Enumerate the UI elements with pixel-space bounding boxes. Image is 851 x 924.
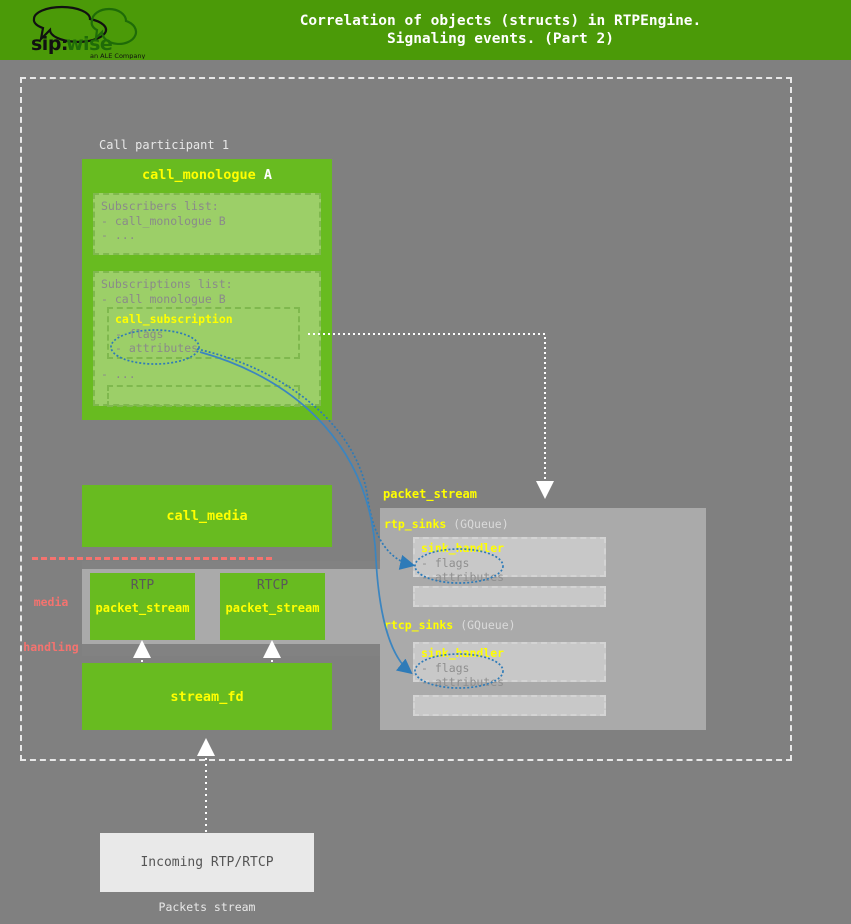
rtcp-label: RTCP [220, 578, 325, 593]
subscriptions-list-pane: Subscriptions list: - call monologue B c… [93, 271, 321, 406]
page-header: sip: wise an ALE Company Correlation of … [0, 0, 851, 60]
call-participant-label: Call participant 1 [99, 138, 229, 152]
call-media-title: call_media [82, 508, 332, 524]
subscribers-list-pane: Subscribers list: - call_monologue B - .… [93, 193, 321, 255]
stream-fd-title: stream_fd [82, 689, 332, 705]
subscribers-item-0: - call_monologue B [101, 214, 313, 229]
incoming-rtp-rtcp-box[interactable]: Incoming RTP/RTCP [100, 833, 314, 892]
rtp-packet-stream-box[interactable]: RTP packet_stream [90, 573, 195, 640]
media-handling-divider [32, 557, 272, 560]
rtp-sinks-label: rtp_sinks (GQueue) [384, 517, 509, 531]
sipwise-logo-icon: sip: wise an ALE Company [28, 3, 168, 59]
rtcp-sink-handler-placeholder [413, 695, 606, 716]
packets-stream-label: Packets stream [100, 900, 314, 914]
rtp-sink-handler-field-attributes: - attributes [421, 570, 598, 585]
media-band-bottom [82, 644, 380, 656]
media-handling-label-line2: handling [20, 640, 82, 655]
packet-stream-detail-box: rtp_sinks (GQueue) sink_handler - flags … [380, 508, 706, 730]
media-handling-label-line1: media [20, 595, 82, 610]
subscriptions-item-1: - ... [101, 367, 136, 382]
call-subscription-placeholder-box [107, 385, 300, 407]
rtp-sink-handler-field-flags: - flags [421, 556, 598, 571]
packet-stream-label: packet_stream [383, 487, 477, 501]
subscribers-item-1: - ... [101, 228, 313, 243]
rtp-packet-stream-title: packet_stream [90, 601, 195, 615]
rtp-sink-handler-title: sink_handler [421, 541, 598, 556]
rtp-sink-handler-box[interactable]: sink_handler - flags - attributes [413, 537, 606, 577]
call-media-box[interactable]: call_media [82, 485, 332, 547]
rtcp-sink-handler-field-attributes: - attributes [421, 675, 598, 690]
page-title-line1: Correlation of objects (structs) in RTPE… [190, 12, 811, 30]
rtcp-packet-stream-box[interactable]: RTCP packet_stream [220, 573, 325, 640]
call-subscription-field-attributes: - attributes [115, 341, 292, 356]
rtp-label: RTP [90, 578, 195, 593]
page-title: Correlation of objects (structs) in RTPE… [190, 12, 851, 48]
stream-fd-box[interactable]: stream_fd [82, 663, 332, 730]
media-handling-label: media handling [20, 565, 82, 670]
logo-container[interactable]: sip: wise an ALE Company [0, 0, 190, 60]
page-title-line2: Signaling events. (Part 2) [190, 30, 811, 48]
svg-text:an ALE Company: an ALE Company [90, 52, 145, 59]
rtcp-sink-handler-title: sink_handler [421, 646, 598, 661]
rtcp-sink-handler-box[interactable]: sink_handler - flags - attributes [413, 642, 606, 682]
rtp-sinks-name: rtp_sinks [384, 517, 446, 531]
rtcp-sinks-name: rtcp_sinks [384, 618, 453, 632]
subscriptions-item-0: - call monologue B [101, 292, 313, 307]
rtcp-packet-stream-title: packet_stream [220, 601, 325, 615]
rtp-sink-handler-placeholder [413, 586, 606, 607]
rtcp-sink-handler-field-flags: - flags [421, 661, 598, 676]
call-subscription-field-flags: - flags [115, 327, 292, 342]
call-monologue-a-box[interactable]: call_monologue A Subscribers list: - cal… [82, 159, 332, 420]
call-monologue-a-title-suffix: A [256, 167, 272, 183]
call-monologue-a-title-name: call_monologue [142, 167, 256, 183]
rtp-sinks-type: (GQueue) [453, 517, 508, 531]
rtcp-sinks-type: (GQueue) [460, 618, 515, 632]
svg-text:sip:: sip: [31, 33, 68, 55]
subscriptions-heading: Subscriptions list: [101, 277, 313, 292]
subscribers-heading: Subscribers list: [101, 199, 313, 214]
call-monologue-a-title: call_monologue A [82, 167, 332, 183]
media-band-top [82, 561, 380, 569]
incoming-rtp-rtcp-title: Incoming RTP/RTCP [140, 855, 273, 870]
call-subscription-box[interactable]: call_subscription - flags - attributes [107, 307, 300, 359]
rtcp-sinks-label: rtcp_sinks (GQueue) [384, 618, 516, 632]
call-subscription-title: call_subscription [115, 312, 292, 327]
